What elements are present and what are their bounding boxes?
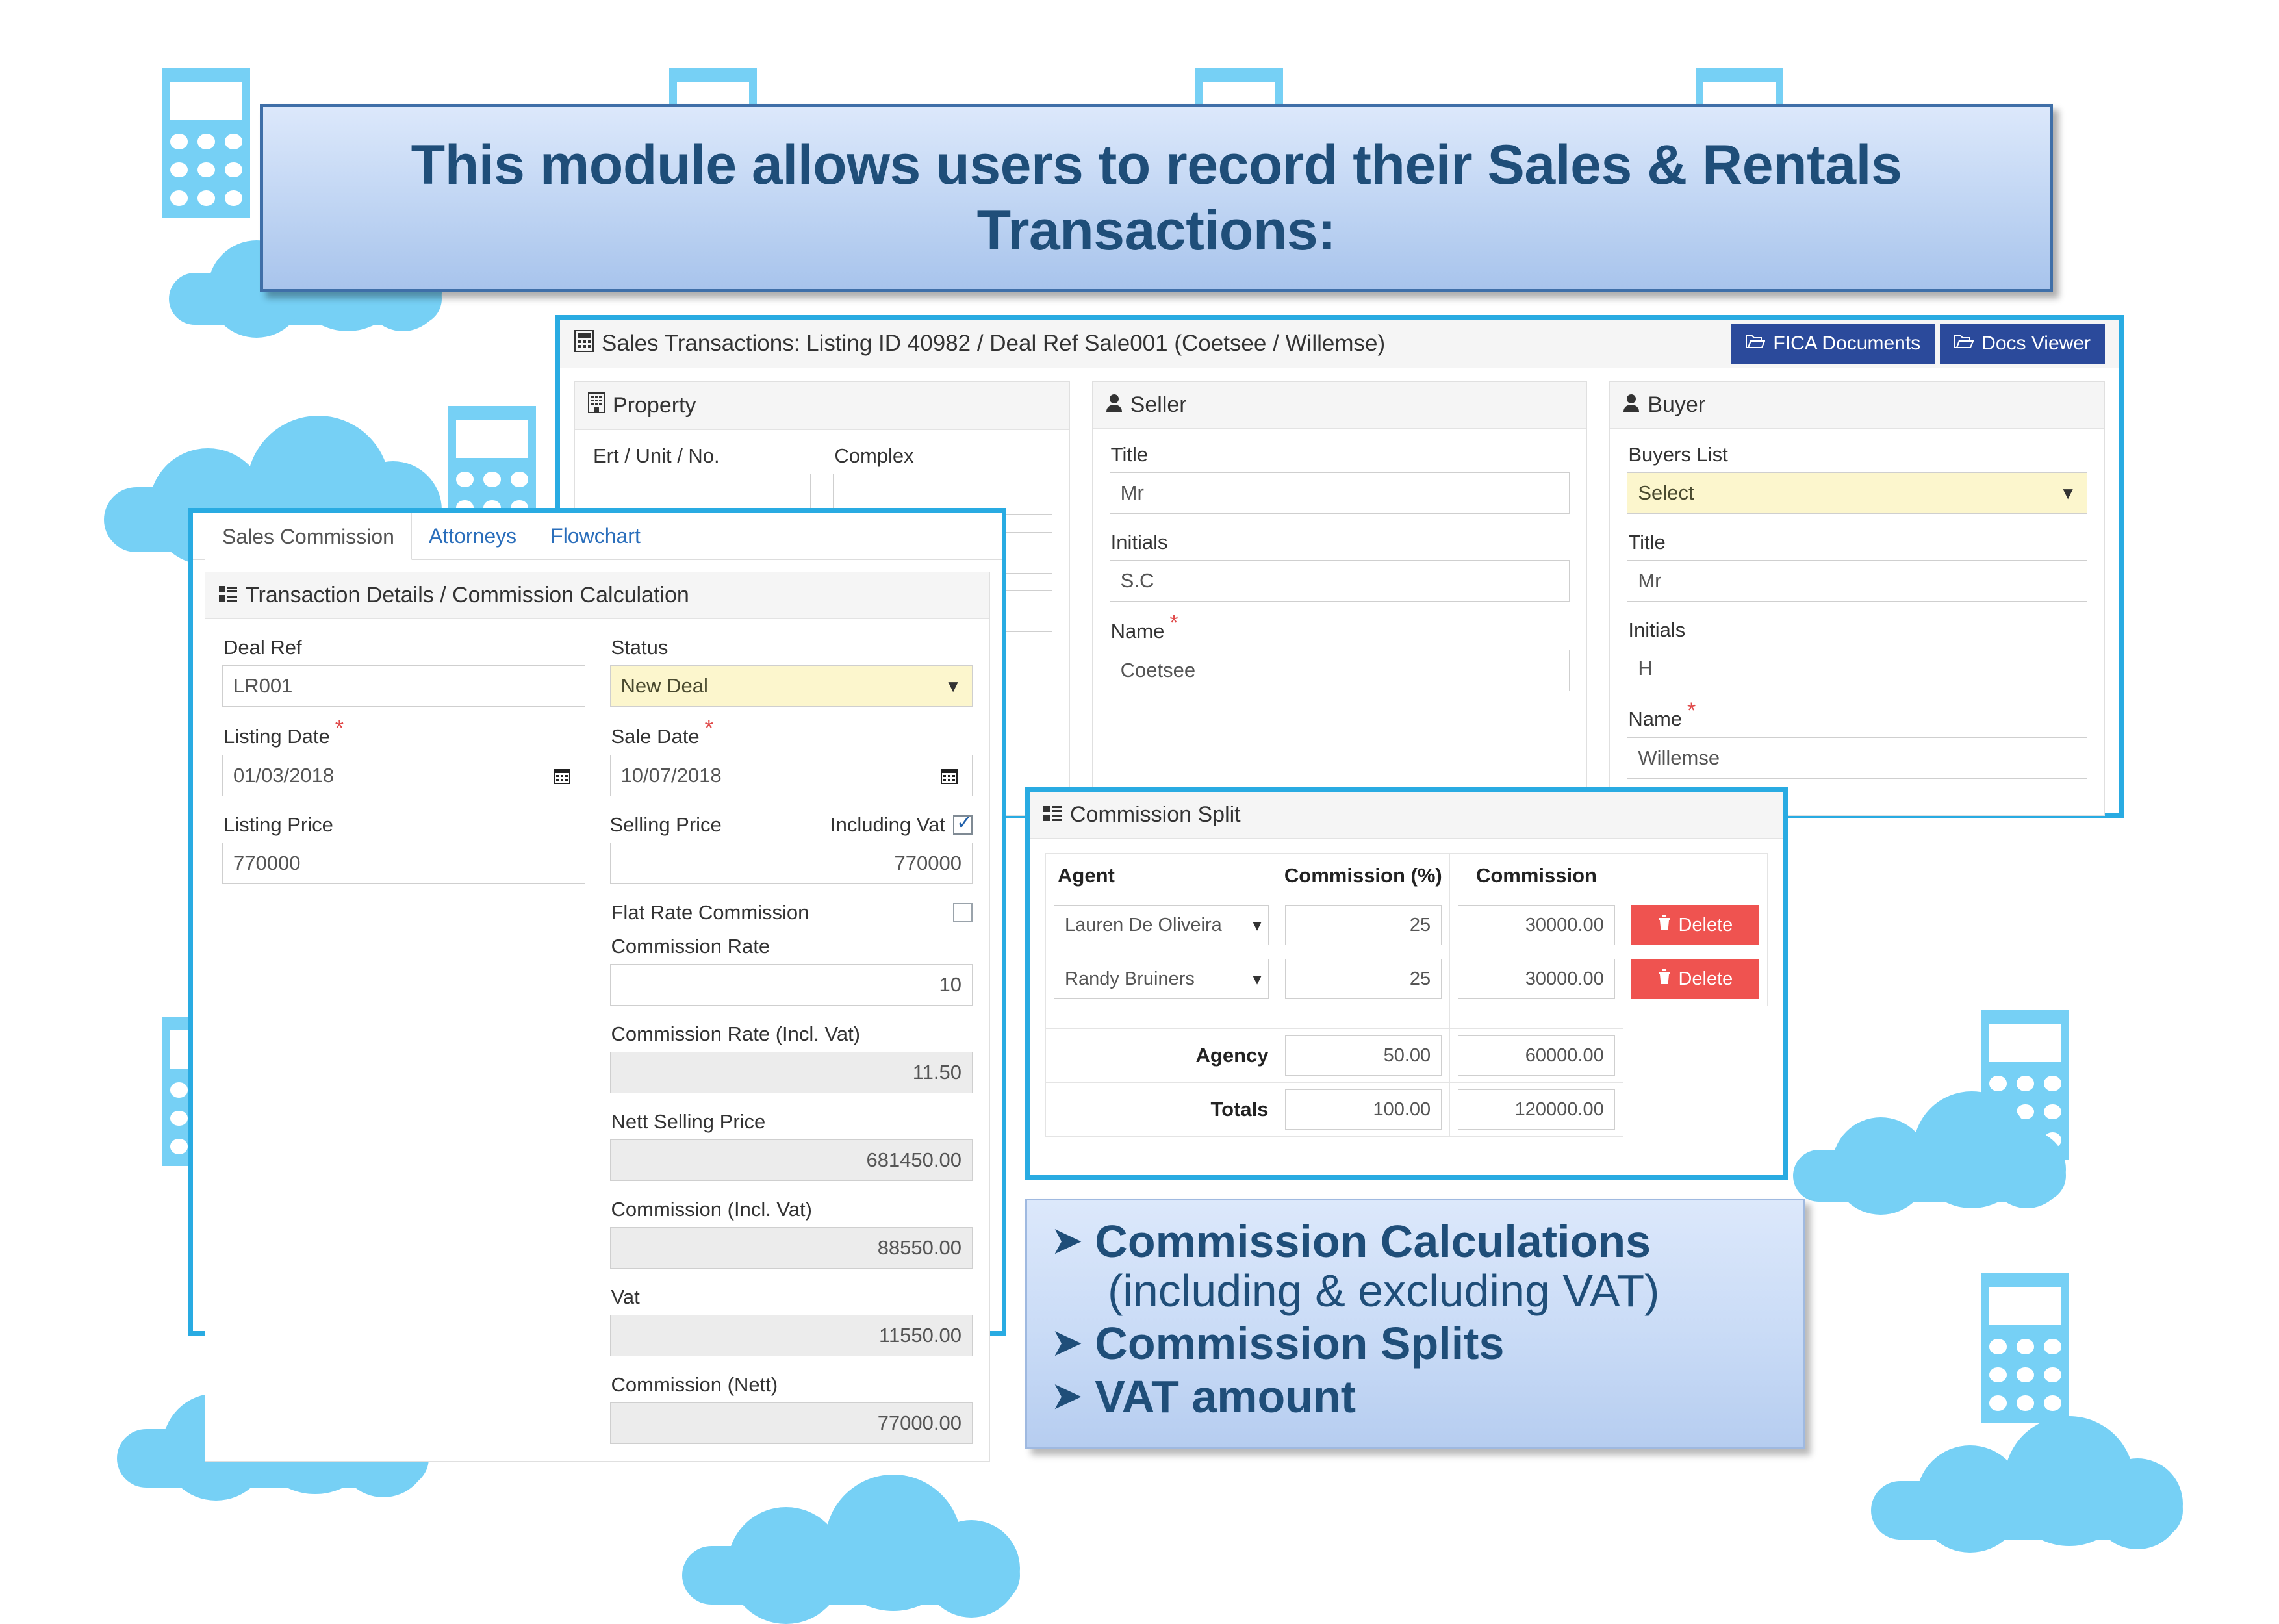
including-vat-label: Including Vat [830,813,945,837]
commission-percent-input[interactable]: 25 [1285,905,1442,945]
spacer-cell [1450,1006,1623,1029]
commission-split-window: Commission Split Agent Commission (%) Co… [1025,787,1788,1180]
list-alt-icon [1043,802,1062,828]
commission-tabs: Sales Commission Attorneys Flowchart [193,513,1002,560]
chevron-down-icon: ▾ [1253,969,1261,989]
sales-commission-window: Sales Commission Attorneys Flowchart Tra… [188,508,1006,1336]
agent-select[interactable]: Lauren De Oliveira ▾ [1054,905,1269,945]
folder-open-icon [1746,333,1765,355]
agency-row: Agency 50.00 60000.00 [1046,1029,1768,1083]
col-actions [1623,854,1767,898]
listing-price-label: Listing Price [223,813,585,837]
commission-split-title: Commission Split [1070,802,1241,828]
feature-callout: ➤ Commission Calculations (including & e… [1025,1199,1805,1449]
buyers-list-select[interactable]: Select ▼ [1627,472,2087,514]
flat-rate-commission-row[interactable]: Flat Rate Commission [611,901,973,924]
tab-attorneys[interactable]: Attorneys [412,513,533,559]
chevron-down-icon: ▼ [945,676,961,696]
required-asterisk: * [1687,698,1696,723]
delete-label: Delete [1678,915,1733,936]
seller-initials-label: Initials [1111,531,1570,554]
commission-split-table: Agent Commission (%) Commission Lauren D… [1045,853,1768,1137]
totals-commission-cell: 120000.00 [1450,1083,1623,1137]
flat-rate-commission-label: Flat Rate Commission [611,901,809,924]
agent-value: Lauren De Oliveira [1065,915,1222,936]
complex-label: Complex [834,444,1052,468]
buyer-panel-title: Buyer [1648,392,1705,418]
action-cell: Delete [1623,952,1767,1006]
commission-form-right: Status New Deal ▼ Sale Date* 10/07/2018 … [610,636,973,1461]
cloud-icon [1871,1416,2183,1540]
agent-select[interactable]: Randy Bruiners ▾ [1054,959,1269,999]
agency-percent-cell: 50.00 [1277,1029,1450,1083]
calculator-icon [574,330,594,358]
buyer-name-input[interactable]: Willemse [1627,737,2087,779]
totals-percent-value: 100.00 [1285,1089,1442,1130]
table-row: Lauren De Oliveira ▾ 25 30000.00 [1046,898,1768,952]
sale-date-field[interactable]: 10/07/2018 [610,755,973,796]
commission-amount-input[interactable]: 30000.00 [1458,959,1615,999]
arrow-bullet-icon: ➤ [1050,1217,1083,1267]
window-title-text: Sales Transactions: Listing ID 40982 / D… [602,331,1385,357]
buyer-initials-input[interactable]: H [1627,648,2087,689]
seller-title-label: Title [1111,443,1570,466]
list-alt-icon [218,583,238,608]
agency-commission-input[interactable]: 60000.00 [1458,1035,1615,1076]
chevron-down-icon: ▼ [2059,483,2076,503]
commission-nett-label: Commission (Nett) [611,1373,973,1397]
spacer-cell [1623,1006,1767,1029]
delete-row-button[interactable]: Delete [1631,905,1759,945]
docs-viewer-button[interactable]: Docs Viewer [1940,324,2105,364]
cloud-icon [682,1475,1020,1605]
including-vat-group[interactable]: Including Vat [830,813,973,837]
buyer-initials-label: Initials [1628,618,2087,642]
table-row: Randy Bruiners ▾ 25 30000.00 [1046,952,1768,1006]
list-item: ➤ VAT amount [1050,1373,1779,1422]
commission-cell: 30000.00 [1450,898,1623,952]
fica-documents-button[interactable]: FICA Documents [1731,324,1935,364]
tab-sales-commission[interactable]: Sales Commission [205,513,412,560]
user-icon [1106,392,1123,418]
header-button-group: FICA Documents Docs Viewer [1731,324,2105,364]
totals-action-cell [1623,1083,1767,1137]
seller-panel-title: Seller [1130,392,1187,418]
including-vat-checkbox[interactable] [953,815,973,835]
property-panel-header: Property [575,382,1069,430]
vat-value: 11550.00 [610,1315,973,1356]
col-agent: Agent [1046,854,1277,898]
totals-commission-value: 120000.00 [1458,1089,1615,1130]
delete-label: Delete [1678,969,1733,990]
seller-name-input[interactable]: Coetsee [1110,650,1570,691]
calendar-icon[interactable] [926,755,973,796]
module-title-banner: This module allows users to record their… [260,104,2053,292]
building-icon [588,392,605,419]
sales-transactions-header: Sales Transactions: Listing ID 40982 / D… [560,320,2119,368]
property-panel-title: Property [613,393,696,418]
transaction-details-header: Transaction Details / Commission Calcula… [205,572,989,619]
listing-date-field[interactable]: 01/03/2018 [222,755,585,796]
seller-name-label: Name* [1111,618,1570,644]
action-cell: Delete [1623,898,1767,952]
tab-flowchart[interactable]: Flowchart [533,513,657,559]
transaction-details-title: Transaction Details / Commission Calcula… [246,583,689,608]
required-asterisk: * [335,716,344,741]
commission-form: Deal Ref LR001 Listing Date* 01/03/2018 … [205,619,989,1461]
transaction-details-panel: Transaction Details / Commission Calcula… [205,572,990,1462]
required-asterisk: * [1169,611,1178,635]
docs-viewer-label: Docs Viewer [1981,333,2091,355]
commission-cell: 30000.00 [1450,952,1623,1006]
calendar-icon[interactable] [539,755,585,796]
commission-incl-vat-label: Commission (Incl. Vat) [611,1198,973,1221]
seller-panel-body: Title Mr Initials S.C Name* Coetsee [1093,429,1587,728]
commission-incl-vat-value: 88550.00 [610,1227,973,1269]
listing-date-input[interactable]: 01/03/2018 [222,755,539,796]
status-label: Status [611,636,973,659]
agent-value: Randy Bruiners [1065,969,1195,990]
status-value: New Deal [621,674,708,698]
buyer-panel: Buyer Buyers List Select ▼ Title Mr Init… [1609,381,2105,816]
commission-body: Transaction Details / Commission Calcula… [193,560,1002,1462]
trash-icon [1657,969,1672,990]
feature-text: VAT amount [1095,1373,1356,1422]
totals-percent-cell: 100.00 [1277,1083,1450,1137]
arrow-bullet-icon: ➤ [1050,1319,1083,1369]
feature-text: Commission Calculations [1095,1217,1651,1267]
page-title: This module allows users to record their… [263,133,2050,264]
agency-commission-cell: 60000.00 [1450,1029,1623,1083]
selling-price-row: Selling Price Including Vat [610,813,973,837]
commission-nett-value: 77000.00 [610,1402,973,1444]
buyer-title-input[interactable]: Mr [1627,560,2087,602]
deal-ref-input[interactable]: LR001 [222,665,585,707]
seller-initials-input[interactable]: S.C [1110,560,1570,602]
buyers-list-label: Buyers List [1628,443,2087,466]
commission-split-header: Commission Split [1030,792,1783,839]
buyer-name-label: Name* [1628,706,2087,731]
list-item-subtext: (including & excluding VAT) [1050,1267,1779,1316]
user-icon [1623,392,1640,418]
percent-cell: 25 [1277,898,1450,952]
seller-panel: Seller Title Mr Initials S.C Name* Coets… [1092,381,1588,816]
selling-price-label: Selling Price [610,813,722,837]
calculator-icon [1981,1010,2069,1160]
totals-label: Totals [1046,1083,1277,1137]
spacer-cell [1046,1006,1277,1029]
seller-panel-header: Seller [1093,382,1587,429]
required-asterisk: * [705,716,713,741]
selling-price-input[interactable]: 770000 [610,843,973,884]
col-commission: Commission [1450,854,1623,898]
flat-rate-commission-checkbox[interactable] [953,903,973,922]
erf-unit-no-label: Ert / Unit / No. [593,444,811,468]
chevron-down-icon: ▾ [1253,915,1261,935]
feature-list: ➤ Commission Calculations (including & e… [1050,1217,1779,1421]
agency-label: Agency [1046,1029,1277,1083]
feature-subtext: (including & excluding VAT) [1108,1265,1659,1316]
buyer-panel-body: Buyers List Select ▼ Title Mr Initials H… [1610,429,2104,815]
sale-date-input[interactable]: 10/07/2018 [610,755,926,796]
delete-row-button[interactable]: Delete [1631,959,1759,999]
col-commission-percent: Commission (%) [1277,854,1450,898]
feature-text: Commission Splits [1095,1319,1504,1369]
buyer-panel-header: Buyer [1610,382,2104,429]
spacer-cell [1277,1006,1450,1029]
agency-action-cell [1623,1029,1767,1083]
agent-cell: Randy Bruiners ▾ [1046,952,1277,1006]
nett-selling-price-label: Nett Selling Price [611,1110,973,1134]
sale-date-label: Sale Date* [611,724,973,749]
cloud-icon [1793,1091,2066,1202]
commission-rate-incl-vat-value: 11.50 [610,1052,973,1093]
commission-rate-input[interactable]: 10 [610,964,973,1006]
window-title-group: Sales Transactions: Listing ID 40982 / D… [574,330,1385,358]
commission-rate-incl-vat-label: Commission Rate (Incl. Vat) [611,1022,973,1046]
trash-icon [1657,915,1672,936]
list-item: ➤ Commission Calculations [1050,1217,1779,1267]
commission-form-left: Deal Ref LR001 Listing Date* 01/03/2018 … [222,636,585,1461]
commission-amount-input[interactable]: 30000.00 [1458,905,1615,945]
fica-documents-label: FICA Documents [1773,333,1920,355]
commission-percent-input[interactable]: 25 [1285,959,1442,999]
calculator-icon [1981,1273,2069,1423]
list-item: ➤ Commission Splits [1050,1319,1779,1369]
folder-open-icon [1954,333,1974,355]
agency-percent-input[interactable]: 50.00 [1285,1035,1442,1076]
table-spacer-row [1046,1006,1768,1029]
calculator-icon [162,68,250,218]
arrow-bullet-icon: ➤ [1050,1373,1083,1422]
table-header-row: Agent Commission (%) Commission [1046,854,1768,898]
commission-split-body: Agent Commission (%) Commission Lauren D… [1030,839,1783,1152]
nett-selling-price-value: 681450.00 [610,1139,973,1181]
percent-cell: 25 [1277,952,1450,1006]
seller-title-input[interactable]: Mr [1110,472,1570,514]
listing-price-input[interactable]: 770000 [222,843,585,884]
listing-date-label: Listing Date* [223,724,585,749]
agent-cell: Lauren De Oliveira ▾ [1046,898,1277,952]
commission-rate-label: Commission Rate [611,935,973,958]
deal-ref-label: Deal Ref [223,636,585,659]
buyer-title-label: Title [1628,531,2087,554]
totals-row: Totals 100.00 120000.00 [1046,1083,1768,1137]
status-select[interactable]: New Deal ▼ [610,665,973,707]
buyers-list-value: Select [1638,481,1694,505]
vat-label: Vat [611,1286,973,1309]
